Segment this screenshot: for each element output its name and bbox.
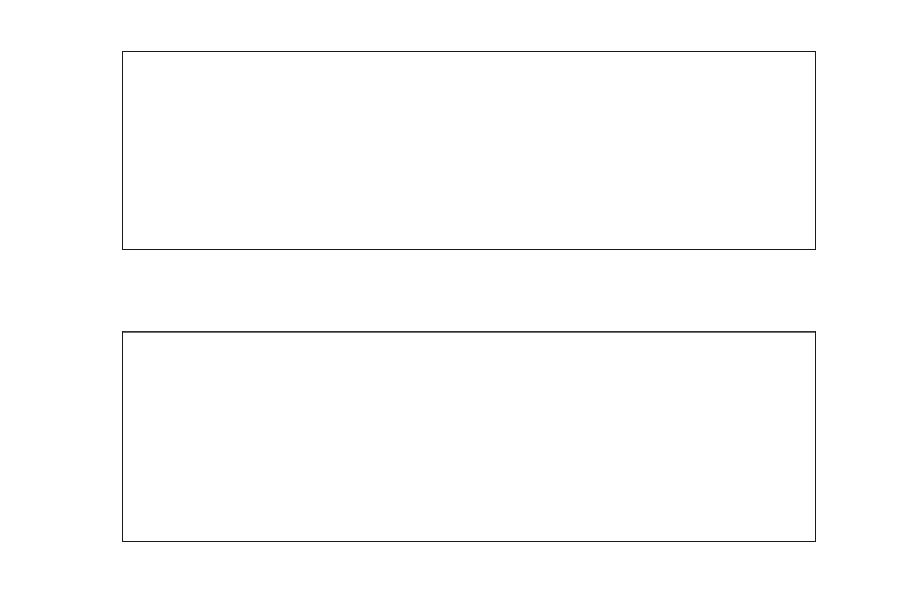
plot-area-tidal-height [122,331,816,542]
tick-marks-bottom [123,332,815,541]
figure-canvas [0,0,900,600]
tick-marks-top [123,52,815,249]
plot-area-current-speed [122,51,816,250]
